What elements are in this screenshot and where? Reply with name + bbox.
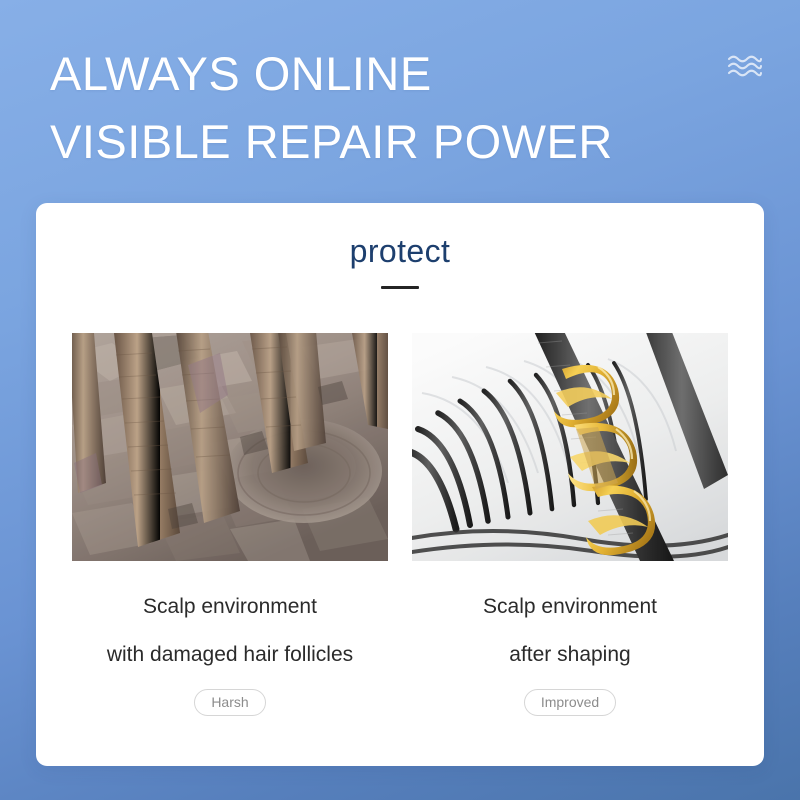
panel-before: Scalp environment with damaged hair foll…: [72, 333, 388, 716]
caption-before: Scalp environment with damaged hair foll…: [107, 583, 353, 679]
photo-hair-ribbon: [412, 333, 728, 561]
caption-after: Scalp environment after shaping: [483, 583, 657, 679]
caption-before-line-1: Scalp environment: [107, 583, 353, 631]
poster-root: ALWAYS ONLINE VISIBLE REPAIR POWER prote…: [0, 0, 800, 800]
caption-after-line-2: after shaping: [483, 631, 657, 679]
badge-improved: Improved: [524, 689, 616, 716]
comparison-panels: Scalp environment with damaged hair foll…: [36, 333, 764, 716]
headline-line-1: ALWAYS ONLINE: [50, 40, 750, 108]
panel-after: Scalp environment after shaping Improved: [412, 333, 728, 716]
wave-lines-icon: [726, 52, 764, 80]
title-divider: [381, 286, 419, 289]
photo-scalp-damaged: [72, 333, 388, 561]
card-title: protect: [36, 233, 764, 270]
caption-after-line-1: Scalp environment: [483, 583, 657, 631]
header-block: ALWAYS ONLINE VISIBLE REPAIR POWER: [50, 40, 750, 176]
headline-line-2: VISIBLE REPAIR POWER: [50, 108, 750, 176]
caption-before-line-2: with damaged hair follicles: [107, 631, 353, 679]
content-card: protect: [36, 203, 764, 766]
badge-harsh: Harsh: [194, 689, 265, 716]
